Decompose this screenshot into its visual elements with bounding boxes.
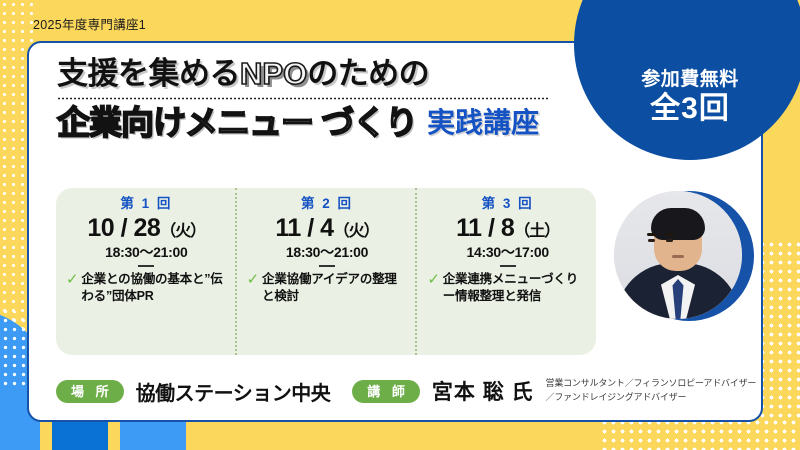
session-topic-row: ✓ 企業との協働の基本と”伝わる”団体PR (66, 271, 227, 304)
bottom-bar-3 (120, 418, 186, 450)
session-date: 11 / 4（火） (247, 214, 408, 243)
title-line-1-suffix: のための (307, 56, 429, 91)
session-number: 第 2 回 (247, 197, 408, 212)
session-date-value: 11 / 8 (456, 214, 514, 242)
credentials-line-2: ／ファンドレイジングアドバイザー (546, 391, 757, 405)
session-day-of-week: （火） (334, 223, 379, 240)
bottom-bar-1 (0, 418, 40, 450)
badge-line-2: 全3回 (650, 92, 730, 127)
session-time: 14:30〜17:00 (427, 244, 588, 261)
session-rule (138, 265, 154, 267)
badge-line-1: 参加費無料 (641, 70, 739, 89)
session-date-value: 11 / 4 (275, 214, 333, 242)
bottom-dot-pattern (600, 418, 800, 450)
session-rule (319, 265, 335, 267)
flyer-root: 2025年度専門講座1 参加費無料 全3回 支援を集めるNPOのための 企業向け… (0, 0, 800, 450)
title-divider (57, 97, 549, 100)
lecturer-name: 宮本 聡 氏 (432, 376, 534, 406)
check-icon: ✓ (427, 271, 439, 288)
session-time: 18:30〜21:00 (247, 244, 408, 261)
session-column: 第 2 回 11 / 4（火） 18:30〜21:00 ✓ 企業協働アイデアの整… (235, 188, 416, 355)
session-topic: 企業協働アイデアの整理と検討 (262, 271, 407, 304)
title-line-1-prefix: 支援を集める (57, 56, 240, 91)
session-number: 第 1 回 (66, 197, 227, 212)
session-topic: 企業連携メニューづくりー情報整理と発信 (443, 271, 588, 304)
session-topic: 企業との協働の基本と”伝わる”団体PR (81, 271, 226, 304)
venue-label-pill: 場 所 (56, 380, 124, 403)
title-line-3: 実践講座 (427, 105, 539, 142)
venue-value: 協働ステーション中央 (136, 377, 331, 406)
check-icon: ✓ (66, 271, 78, 288)
session-date: 10 / 28（火） (66, 214, 227, 243)
kicker-label: 2025年度専門講座1 (33, 14, 146, 33)
session-topic-row: ✓ 企業連携メニューづくりー情報整理と発信 (427, 271, 588, 304)
session-number: 第 3 回 (427, 197, 588, 212)
lecturer-credentials: 営業コンサルタント／フィランソロピーアドバイザー ／ファンドレイジングアドバイザ… (546, 377, 757, 405)
session-date: 11 / 8（土） (427, 214, 588, 243)
session-day-of-week: （火） (160, 223, 205, 240)
bottom-bar-2 (52, 418, 108, 450)
lecturer-photo (614, 191, 754, 331)
photo-eye-left (648, 239, 655, 242)
photo-brow-right (665, 233, 674, 236)
photo-hair (651, 208, 705, 240)
photo-mouth (672, 255, 684, 258)
session-topic-row: ✓ 企業協働アイデアの整理と検討 (247, 271, 408, 304)
session-date-value: 10 / 28 (87, 214, 160, 242)
photo-brow-left (647, 233, 656, 236)
photo-eye-right (666, 239, 673, 242)
title-npo: NPO (240, 56, 307, 91)
footer-info: 場 所 協働ステーション中央 講 師 宮本 聡 氏 営業コンサルタント／フィラン… (56, 368, 746, 414)
sessions-panel: 第 1 回 10 / 28（火） 18:30〜21:00 ✓ 企業との協働の基本… (56, 188, 596, 355)
session-rule (500, 265, 516, 267)
check-icon: ✓ (247, 271, 259, 288)
session-day-of-week: （土） (514, 223, 559, 240)
title-line-2: 企業向けメニュー づくり (57, 103, 417, 143)
session-column: 第 3 回 11 / 8（土） 14:30〜17:00 ✓ 企業連携メニューづく… (415, 188, 596, 355)
session-column: 第 1 回 10 / 28（火） 18:30〜21:00 ✓ 企業との協働の基本… (56, 188, 235, 355)
lecturer-label-pill: 講 師 (352, 380, 420, 403)
avatar (614, 191, 742, 319)
session-time: 18:30〜21:00 (66, 244, 227, 261)
credentials-line-1: 営業コンサルタント／フィランソロピーアドバイザー (546, 377, 757, 391)
